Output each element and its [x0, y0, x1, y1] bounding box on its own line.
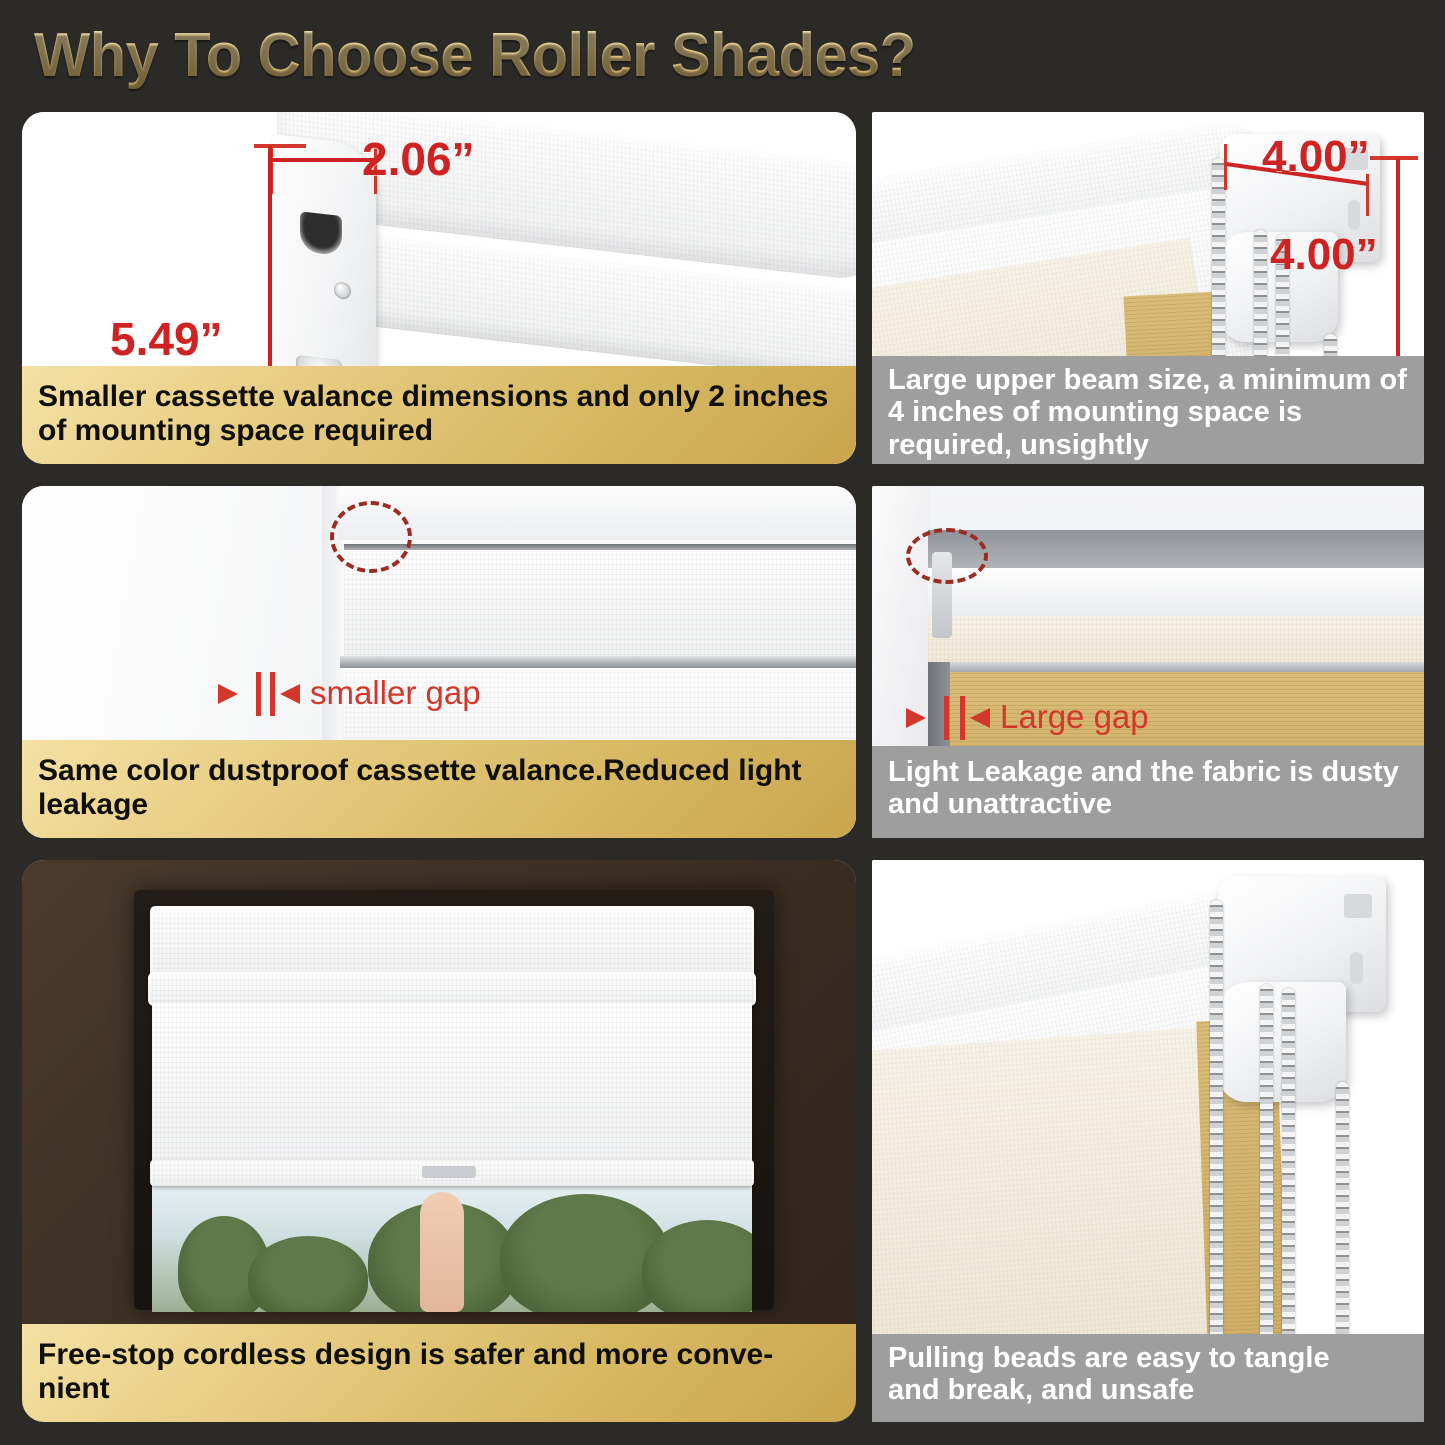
- panel-caption-line-2: and break, and unsafe: [888, 1374, 1194, 1406]
- bracket-notch-top: [1344, 894, 1372, 918]
- panel-caption: Free-stop cordless design is safer and m…: [22, 1324, 856, 1422]
- gap-highlight-circle: [330, 501, 412, 573]
- panel-caption-text: Large upper beam size, a minimum of 4 in…: [888, 364, 1408, 461]
- beam-width-label: 4.00”: [1262, 132, 1370, 182]
- panel-cassette-dimensions: 2.06” 5.49” Smaller cassette valance dim…: [22, 112, 856, 464]
- gap-label: smaller gap: [310, 674, 481, 712]
- bracket-slot: [300, 211, 342, 256]
- gap-mark-left: [256, 672, 261, 716]
- panel-caption: Same color dustproof cassette valance.Re…: [22, 740, 856, 838]
- panel-caption: Light Leakage and the fabric is dusty an…: [872, 746, 1424, 838]
- panel-pulling-beads: Pulling beads are easy to tangle and bre…: [872, 860, 1424, 1422]
- gap-arrow-left: [906, 708, 926, 728]
- hand: [420, 1192, 464, 1312]
- panel-caption-text: Same color dustproof cassette valance.Re…: [38, 754, 840, 821]
- bead-chain-3: [1282, 988, 1295, 1340]
- valance-front: [928, 568, 1424, 622]
- beam-width-tick-left: [1224, 144, 1227, 190]
- gap-mark-left: [944, 696, 949, 740]
- shade-valance-lip: [148, 972, 756, 1006]
- panel-large-gap: Large gap Light Leakage and the fabric i…: [872, 486, 1424, 838]
- height-tick-top: [254, 144, 306, 148]
- bracket-notch-side: [1350, 952, 1363, 984]
- gap-arrow-right: [280, 684, 300, 704]
- gap-arrow-right: [970, 708, 990, 728]
- window-glass: [152, 1182, 752, 1312]
- window-frame-top: [338, 486, 856, 540]
- height-dimension-label: 5.49”: [110, 312, 223, 366]
- page-title: Why To Choose Roller Shades?: [34, 20, 916, 91]
- tree-2: [248, 1236, 368, 1312]
- panel-large-beam: 4.00” 4.00” Large upper beam size, a min…: [872, 112, 1424, 464]
- bracket-notch-side: [1348, 200, 1360, 230]
- gap-highlight-circle: [906, 528, 988, 584]
- panel-caption: Pulling beads are easy to tangle and bre…: [872, 1334, 1424, 1422]
- panel-caption-line-1: Free-stop cordless design is safer and m…: [38, 1338, 773, 1372]
- panel-caption-text: Light Leakage and the fabric is dusty an…: [888, 756, 1408, 821]
- panel-cordless: Free-stop cordless design is safer and m…: [22, 860, 856, 1422]
- valance-lip: [340, 656, 856, 668]
- beam-height-label: 4.00”: [1270, 230, 1378, 280]
- gap-arrow-left: [218, 684, 238, 704]
- gap-label: Large gap: [1000, 698, 1149, 736]
- panel-smaller-gap: smaller gap Same color dustproof cassett…: [22, 486, 856, 838]
- valance-face: [344, 550, 856, 660]
- bead-chain-2: [1260, 984, 1273, 1340]
- panel-caption-text: Smaller cassette valance dimensions and …: [38, 380, 840, 447]
- shade-fabric: [152, 1003, 752, 1178]
- beam-height-tick-top: [1370, 156, 1418, 160]
- panel-caption: Smaller cassette valance dimensions and …: [22, 366, 856, 464]
- infographic-page: Why To Choose Roller Shades? 2.06”: [0, 0, 1445, 1445]
- bead-chain-1: [1210, 900, 1223, 1340]
- gap-mark-right: [960, 696, 965, 740]
- bead-chain-4: [1336, 1082, 1349, 1340]
- title-bar: Why To Choose Roller Shades?: [0, 0, 1445, 112]
- panel-caption: Large upper beam size, a minimum of 4 in…: [872, 356, 1424, 464]
- rail-grip: [422, 1166, 476, 1178]
- panel-caption-line-2: nient: [38, 1372, 110, 1406]
- panel-caption-line-1: Pulling beads are easy to tangle: [888, 1342, 1330, 1374]
- width-dimension-line: [272, 158, 376, 162]
- bracket-screw: [334, 281, 351, 300]
- width-dimension-label: 2.06”: [362, 132, 475, 186]
- gap-mark-right: [270, 672, 275, 716]
